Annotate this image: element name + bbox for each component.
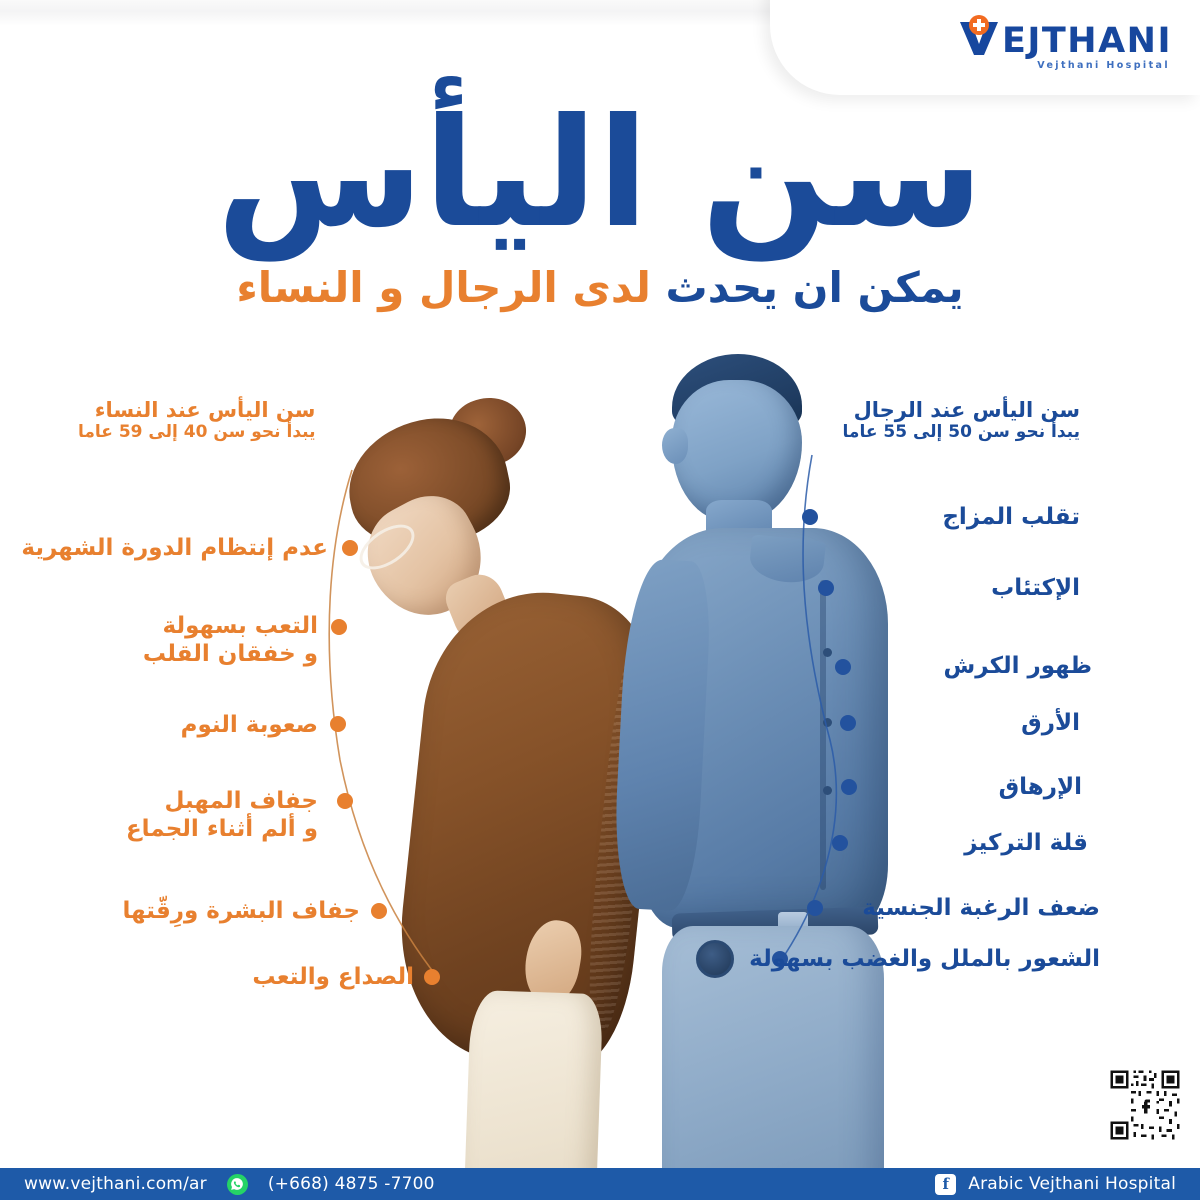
facebook-icon[interactable]: f <box>935 1174 956 1195</box>
logo-mark-row: EJTHANI <box>957 14 1172 58</box>
phone-number[interactable]: (+668) 4875 -7700 <box>268 1174 435 1194</box>
women-age-range: يبدأ نحو سن 40 إلى 59 عاما <box>78 423 315 443</box>
qr-code[interactable] <box>1108 1068 1182 1142</box>
men-section-header: سن اليأس عند الرجال يبدأ نحو سن 50 إلى 5… <box>843 398 1080 443</box>
shirt-button <box>823 786 832 795</box>
women-symptom-item: جفاف البشرة ورِقّتها <box>40 897 360 925</box>
shirt-button <box>823 648 832 657</box>
women-symptom-item: التعب بسهولة و خفقان القلب <box>18 612 318 668</box>
women-symptom-item: صعوبة النوم <box>18 711 318 739</box>
women-symptom-item: الصداع والتعب <box>94 963 414 991</box>
women-section-header: سن اليأس عند النساء يبدأ نحو سن 40 إلى 5… <box>78 398 315 443</box>
men-symptom-item: الأرق <box>1021 709 1080 737</box>
women-heading: سن اليأس عند النساء <box>78 398 315 422</box>
men-symptom-item: تقلب المزاج <box>942 503 1080 531</box>
headline-block: سن اليأس يمكن ان يحدث لدى الرجال و النسا… <box>0 96 1200 312</box>
men-symptom-item: الشعور بالملل والغضب بسهولة <box>749 945 1100 973</box>
logo-subtitle: Vejthani Hospital <box>1037 60 1170 71</box>
footer-bar: www.vejthani.com/ar (+668) 4875 -7700 f … <box>0 1168 1200 1200</box>
shirt-placket <box>820 580 826 890</box>
footer-left-group: www.vejthani.com/ar (+668) 4875 -7700 <box>24 1174 435 1195</box>
subtitle-part-orange: لدى الرجال و النساء <box>236 263 651 312</box>
men-symptom-item: ظهور الكرش <box>944 652 1092 680</box>
infographic-poster: EJTHANI Vejthani Hospital سن اليأس يمكن … <box>0 0 1200 1200</box>
man-photo <box>610 350 970 1140</box>
people-photos <box>0 360 1200 1170</box>
women-symptom-item: جفاف المهبل و ألم أثناء الجماع <box>18 787 318 843</box>
women-symptom-item: عدم إنتظام الدورة الشهرية <box>18 534 328 562</box>
man-ear <box>662 428 688 464</box>
men-heading: سن اليأس عند الرجال <box>843 398 1080 422</box>
shirt-button <box>823 718 832 727</box>
facebook-page-name[interactable]: Arabic Vejthani Hospital <box>968 1174 1176 1194</box>
website-link[interactable]: www.vejthani.com/ar <box>24 1174 207 1194</box>
subtitle-part-blue: يمكن ان يحدث <box>666 263 964 312</box>
whatsapp-icon[interactable] <box>227 1174 248 1195</box>
men-age-range: يبدأ نحو سن 50 إلى 55 عاما <box>843 423 1080 443</box>
men-symptom-item: الإرهاق <box>999 773 1082 801</box>
footer-right-group: f Arabic Vejthani Hospital <box>935 1174 1176 1195</box>
page-subtitle: يمكن ان يحدث لدى الرجال و النساء <box>0 264 1200 312</box>
men-symptom-item: ضعف الرغبة الجنسية <box>862 894 1100 922</box>
page-title: سن اليأس <box>0 96 1200 254</box>
wristwatch-icon <box>696 940 734 978</box>
men-symptom-item: الإكتئاب <box>991 574 1080 602</box>
vejthani-logo[interactable]: EJTHANI Vejthani Hospital <box>962 14 1172 80</box>
vejthani-v-icon <box>957 14 1001 58</box>
men-symptom-item: قلة التركيز <box>964 829 1088 857</box>
logo-wordmark: EJTHANI <box>1002 25 1172 58</box>
